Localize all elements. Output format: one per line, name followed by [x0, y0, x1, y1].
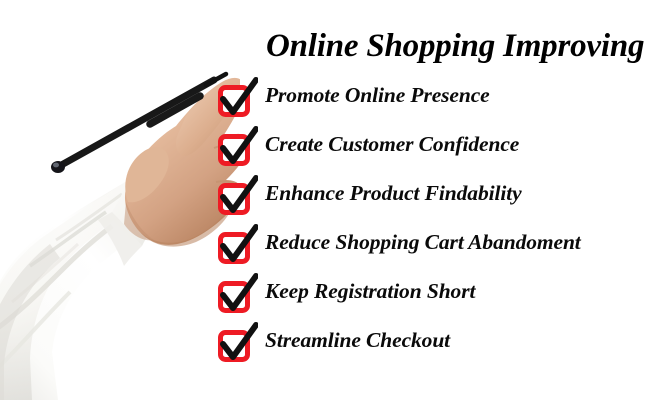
checklist-item-label: Streamline Checkout: [265, 327, 450, 353]
checked-checkbox-icon[interactable]: [214, 223, 258, 267]
checked-checkbox-icon[interactable]: [214, 125, 258, 169]
checklist-item-label: Enhance Product Findability: [265, 180, 522, 206]
checklist: Promote Online Presence Create Customer …: [0, 0, 647, 400]
illustration-canvas: Online Shopping Improving Promote Online…: [0, 0, 647, 400]
checked-checkbox-icon[interactable]: [214, 272, 258, 316]
checklist-item-label: Create Customer Confidence: [265, 131, 519, 157]
checklist-item-label: Keep Registration Short: [265, 278, 475, 304]
checked-checkbox-icon[interactable]: [214, 76, 258, 120]
checked-checkbox-icon[interactable]: [214, 174, 258, 218]
checked-checkbox-icon[interactable]: [214, 321, 258, 365]
checklist-item-label: Promote Online Presence: [265, 82, 490, 108]
checklist-item-label: Reduce Shopping Cart Abandoment: [265, 229, 581, 255]
